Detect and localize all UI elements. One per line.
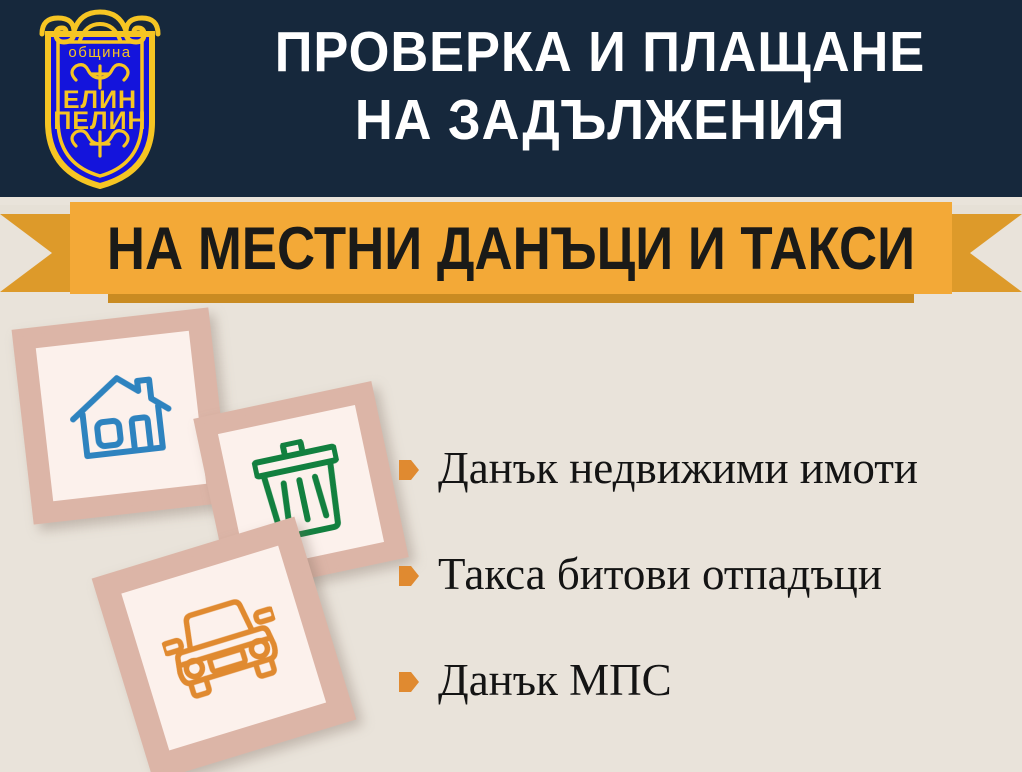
list-item-label: Данък недвижими имоти — [438, 446, 918, 491]
coat-of-arms-shield-icon: община ЕЛИН ПЕЛИН — [18, 4, 183, 189]
header-bar: община ЕЛИН ПЕЛИН ПРОВЕРКА И ПЛАЩАНЕ НА … — [0, 0, 1022, 197]
ribbon-label: НА МЕСТНИ ДАНЪЦИ И ТАКСИ — [123, 202, 899, 294]
poster-root: община ЕЛИН ПЕЛИН ПРОВЕРКА И ПЛАЩАНЕ НА … — [0, 0, 1022, 772]
house-icon — [64, 364, 178, 467]
stamp-inner-house — [36, 331, 206, 501]
arrow-pentagon-icon — [398, 457, 420, 483]
arrow-pentagon-icon — [398, 563, 420, 589]
municipality-logo: община ЕЛИН ПЕЛИН — [18, 4, 183, 189]
list-item[interactable]: Такса битови отпадъци — [398, 521, 1018, 627]
page-title-line-2: НА ЗАДЪЛЖЕНИЯ — [223, 86, 977, 154]
logo-text-obshtina: община — [68, 44, 131, 61]
ribbon-shadow — [108, 293, 914, 303]
page-title-line-1: ПРОВЕРКА И ПЛАЩАНЕ — [223, 18, 977, 86]
subtitle-ribbon: НА МЕСТНИ ДАНЪЦИ И ТАКСИ — [0, 197, 1022, 307]
tax-type-list: Данък недвижими имоти Такса битови отпад… — [398, 415, 1018, 733]
stamp-card-house — [12, 307, 231, 524]
list-item[interactable]: Данък МПС — [398, 627, 1018, 733]
arrow-pentagon-icon — [398, 669, 420, 695]
list-item-label: Данък МПС — [438, 658, 672, 703]
ribbon-panel: НА МЕСТНИ ДАНЪЦИ И ТАКСИ — [70, 202, 952, 294]
car-front-icon — [155, 587, 293, 709]
logo-text-pelin: ПЕЛИН — [53, 107, 146, 135]
list-item-label: Такса битови отпадъци — [438, 552, 882, 597]
list-item[interactable]: Данък недвижими имоти — [398, 415, 1018, 521]
page-title: ПРОВЕРКА И ПЛАЩАНЕ НА ЗАДЪЛЖЕНИЯ — [190, 18, 1010, 154]
